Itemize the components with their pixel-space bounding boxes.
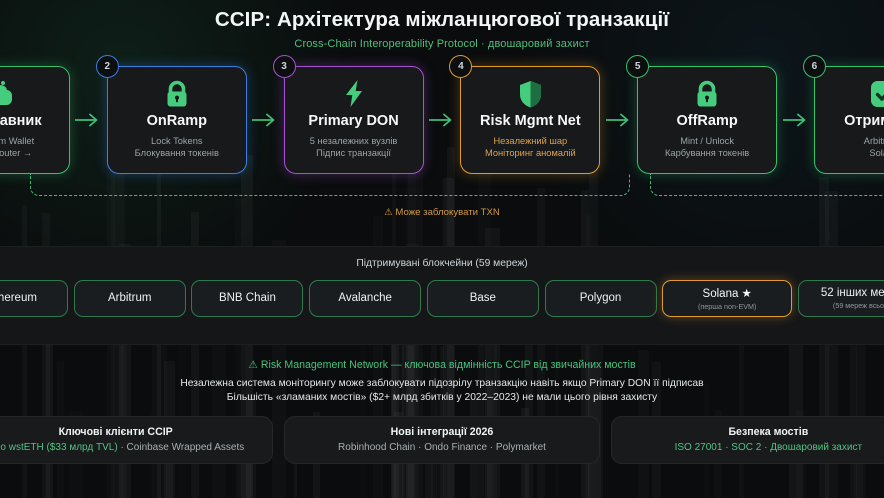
page-title: CCIP: Архітектура міжланцюгової транзакц… — [0, 7, 884, 33]
risk-management-note: ⚠ Risk Management Network — ключова відм… — [0, 359, 884, 403]
risk-block-note: ⚠ Може заблокувати TXN — [0, 207, 884, 218]
info-card-subtitle-rest: Robinhood Chain · Ondo Finance · Polymar… — [338, 442, 546, 453]
flow-node-title: Отримувач — [844, 114, 884, 130]
flow-node-subtitle: Arbitrum /Solana — [864, 135, 884, 161]
info-card[interactable]: Нові інтеграції 2026Robinhood Chain · On… — [284, 416, 599, 464]
chain-chip-label: Avalanche — [338, 292, 392, 304]
background-candle — [478, 324, 484, 498]
flow-node-subtitle: Незалежний шарМоніторинг аномалій — [485, 135, 576, 161]
chain-chip-ethereum[interactable]: Ethereum — [0, 280, 68, 317]
page-header: CCIP: Архітектура міжланцюгової транзакц… — [0, 0, 884, 50]
rmn-line-1: Незалежна система моніторингу може забло… — [0, 378, 884, 389]
flow-node-primary-don[interactable]: 3 Primary DON5 незалежних вузлівПідпис т… — [284, 66, 424, 174]
chain-chip-arbitrum[interactable]: Arbitrum — [74, 280, 186, 317]
info-card[interactable]: Ключові клієнти CCIPLido wstETH ($33 млр… — [0, 416, 273, 464]
flow-node-sub-line-1: Lock Tokens — [135, 135, 219, 148]
flow-node-badge: 6 — [803, 55, 826, 78]
wallet-icon — [0, 80, 15, 108]
flow-node-sub-line-1: Mint / Unlock — [665, 135, 749, 148]
chain-chip-52-інших-мереж[interactable]: 52 інших мереж(59 мереж всього) — [798, 280, 884, 317]
flow-node-sub-line-2: Моніторинг аномалій — [485, 147, 576, 160]
chain-chip-label: Polygon — [580, 292, 622, 304]
lock-icon — [164, 80, 190, 108]
chain-chip-label: Ethereum — [0, 292, 37, 304]
flow-arrow-icon — [602, 66, 636, 174]
flow-arrow-icon — [425, 66, 459, 174]
rmn-headline: ⚠ Risk Management Network — ключова відм… — [0, 359, 884, 371]
flow-node-title: Відправник — [0, 114, 42, 130]
flow-node-subtitle: Mint / UnlockКарбування токенів — [665, 135, 749, 161]
flow-node-отримувач[interactable]: 6 ОтримувачArbitrum /Solana — [814, 66, 884, 174]
flow-node-badge: 4 — [449, 55, 472, 78]
chain-chip-sublabel: (59 мереж всього) — [833, 301, 884, 310]
transaction-flow-diagram: 1 ВідправникEthereum WalletCCIP Router →… — [0, 66, 884, 236]
flow-node-sub-line-2: Карбування токенів — [665, 147, 749, 160]
flow-node-subtitle: Ethereum WalletCCIP Router → — [0, 135, 34, 161]
flow-node-title: OffRamp — [677, 114, 738, 130]
supported-chains-section: Підтримувані блокчейни (59 мереж) Ethere… — [0, 246, 884, 345]
flow-node-title: Risk Mgmt Net — [480, 114, 581, 130]
flow-node-badge: 5 — [626, 55, 649, 78]
flow-node-badge: 2 — [96, 55, 119, 78]
flow-node-subtitle: 5 незалежних вузлівПідпис транзакції — [310, 135, 398, 161]
page-subtitle: Cross-Chain Interoperability Protocol · … — [0, 38, 884, 50]
flow-node-risk-mgmt-net[interactable]: 4 Risk Mgmt NetНезалежний шарМоніторинг … — [460, 66, 600, 174]
flow-node-відправник[interactable]: 1 ВідправникEthereum WalletCCIP Router → — [0, 66, 70, 174]
chain-chip-sublabel: (перша non-EVM) — [698, 302, 756, 311]
supported-chains-title: Підтримувані блокчейни (59 мереж) — [0, 258, 884, 269]
background-candle — [856, 328, 866, 498]
flow-node-sub-line-2: Solana — [864, 147, 884, 160]
background-candle — [739, 324, 744, 498]
info-card-subtitle: Robinhood Chain · Ondo Finance · Polymar… — [338, 442, 546, 453]
check-icon — [870, 80, 884, 108]
chain-chip-label: 52 інших мереж — [821, 287, 884, 299]
shield-icon — [518, 80, 543, 108]
info-cards-row: Ключові клієнти CCIPLido wstETH ($33 млр… — [0, 416, 884, 464]
info-card-subtitle: ISO 27001 · SOC 2 · Двошаровий захист — [675, 442, 862, 453]
flow-node-sub-line-2: Блокування токенів — [135, 147, 219, 160]
flow-node-offramp[interactable]: 5 OffRampMint / UnlockКарбування токенів — [637, 66, 777, 174]
chain-chip-label: BNB Chain — [219, 292, 276, 304]
info-card[interactable]: Безпека мостівISO 27001 · SOC 2 · Двошар… — [611, 416, 884, 464]
flow-node-sub-line-2: CCIP Router → — [0, 147, 34, 160]
info-card-title: Безпека мостів — [728, 426, 808, 438]
info-card-subtitle-accent: Lido wstETH ($33 млрд TVL) — [0, 442, 118, 453]
chain-chip-avalanche[interactable]: Avalanche — [309, 280, 421, 317]
chain-chip-polygon[interactable]: Polygon — [545, 280, 657, 317]
lock-icon — [694, 80, 720, 108]
chain-chip-base[interactable]: Base — [427, 280, 539, 317]
rmn-line-2: Більшість «зламаних мостів» ($2+ млрд зб… — [0, 392, 884, 403]
chain-chip-row: EthereumArbitrumBNB ChainAvalancheBasePo… — [0, 280, 884, 317]
chain-chip-label: Base — [470, 292, 496, 304]
info-card-subtitle-accent: ISO 27001 · SOC 2 · Двошаровий захист — [675, 442, 862, 453]
flow-node-sub-line-1: Ethereum Wallet — [0, 135, 34, 148]
flow-arrow-icon — [71, 66, 105, 174]
flow-node-title: OnRamp — [147, 114, 207, 130]
flow-bracket-destination-side — [650, 174, 884, 196]
flow-node-sub-line-1: Arbitrum / — [864, 135, 884, 148]
flow-arrow-icon — [779, 66, 813, 174]
info-card-subtitle-rest: · Coinbase Wrapped Assets — [118, 442, 245, 453]
chain-chip-label: Solana ★ — [703, 286, 752, 300]
info-card-subtitle: Lido wstETH ($33 млрд TVL) · Coinbase Wr… — [0, 442, 244, 453]
flow-node-badge: 3 — [273, 55, 296, 78]
chain-chip-label: Arbitrum — [108, 292, 151, 304]
info-card-title: Нові інтеграції 2026 — [391, 426, 494, 438]
flow-node-title: Primary DON — [308, 114, 398, 130]
flow-node-onramp[interactable]: 2 OnRampLock TokensБлокування токенів — [107, 66, 247, 174]
chain-chip-bnb-chain[interactable]: BNB Chain — [191, 280, 303, 317]
flow-node-sub-line-1: 5 незалежних вузлів — [310, 135, 398, 148]
flow-node-sub-line-2: Підпис транзакції — [310, 147, 398, 160]
flow-arrow-icon — [248, 66, 282, 174]
flow-node-row: 1 ВідправникEthereum WalletCCIP Router →… — [0, 66, 884, 174]
info-card-title: Ключові клієнти CCIP — [59, 426, 173, 438]
lightning-icon — [342, 80, 366, 108]
chain-chip-solana-[interactable]: Solana ★(перша non-EVM) — [662, 280, 792, 317]
flow-node-subtitle: Lock TokensБлокування токенів — [135, 135, 219, 161]
flow-bracket-source-side — [30, 174, 630, 196]
flow-node-sub-line-1: Незалежний шар — [485, 135, 576, 148]
